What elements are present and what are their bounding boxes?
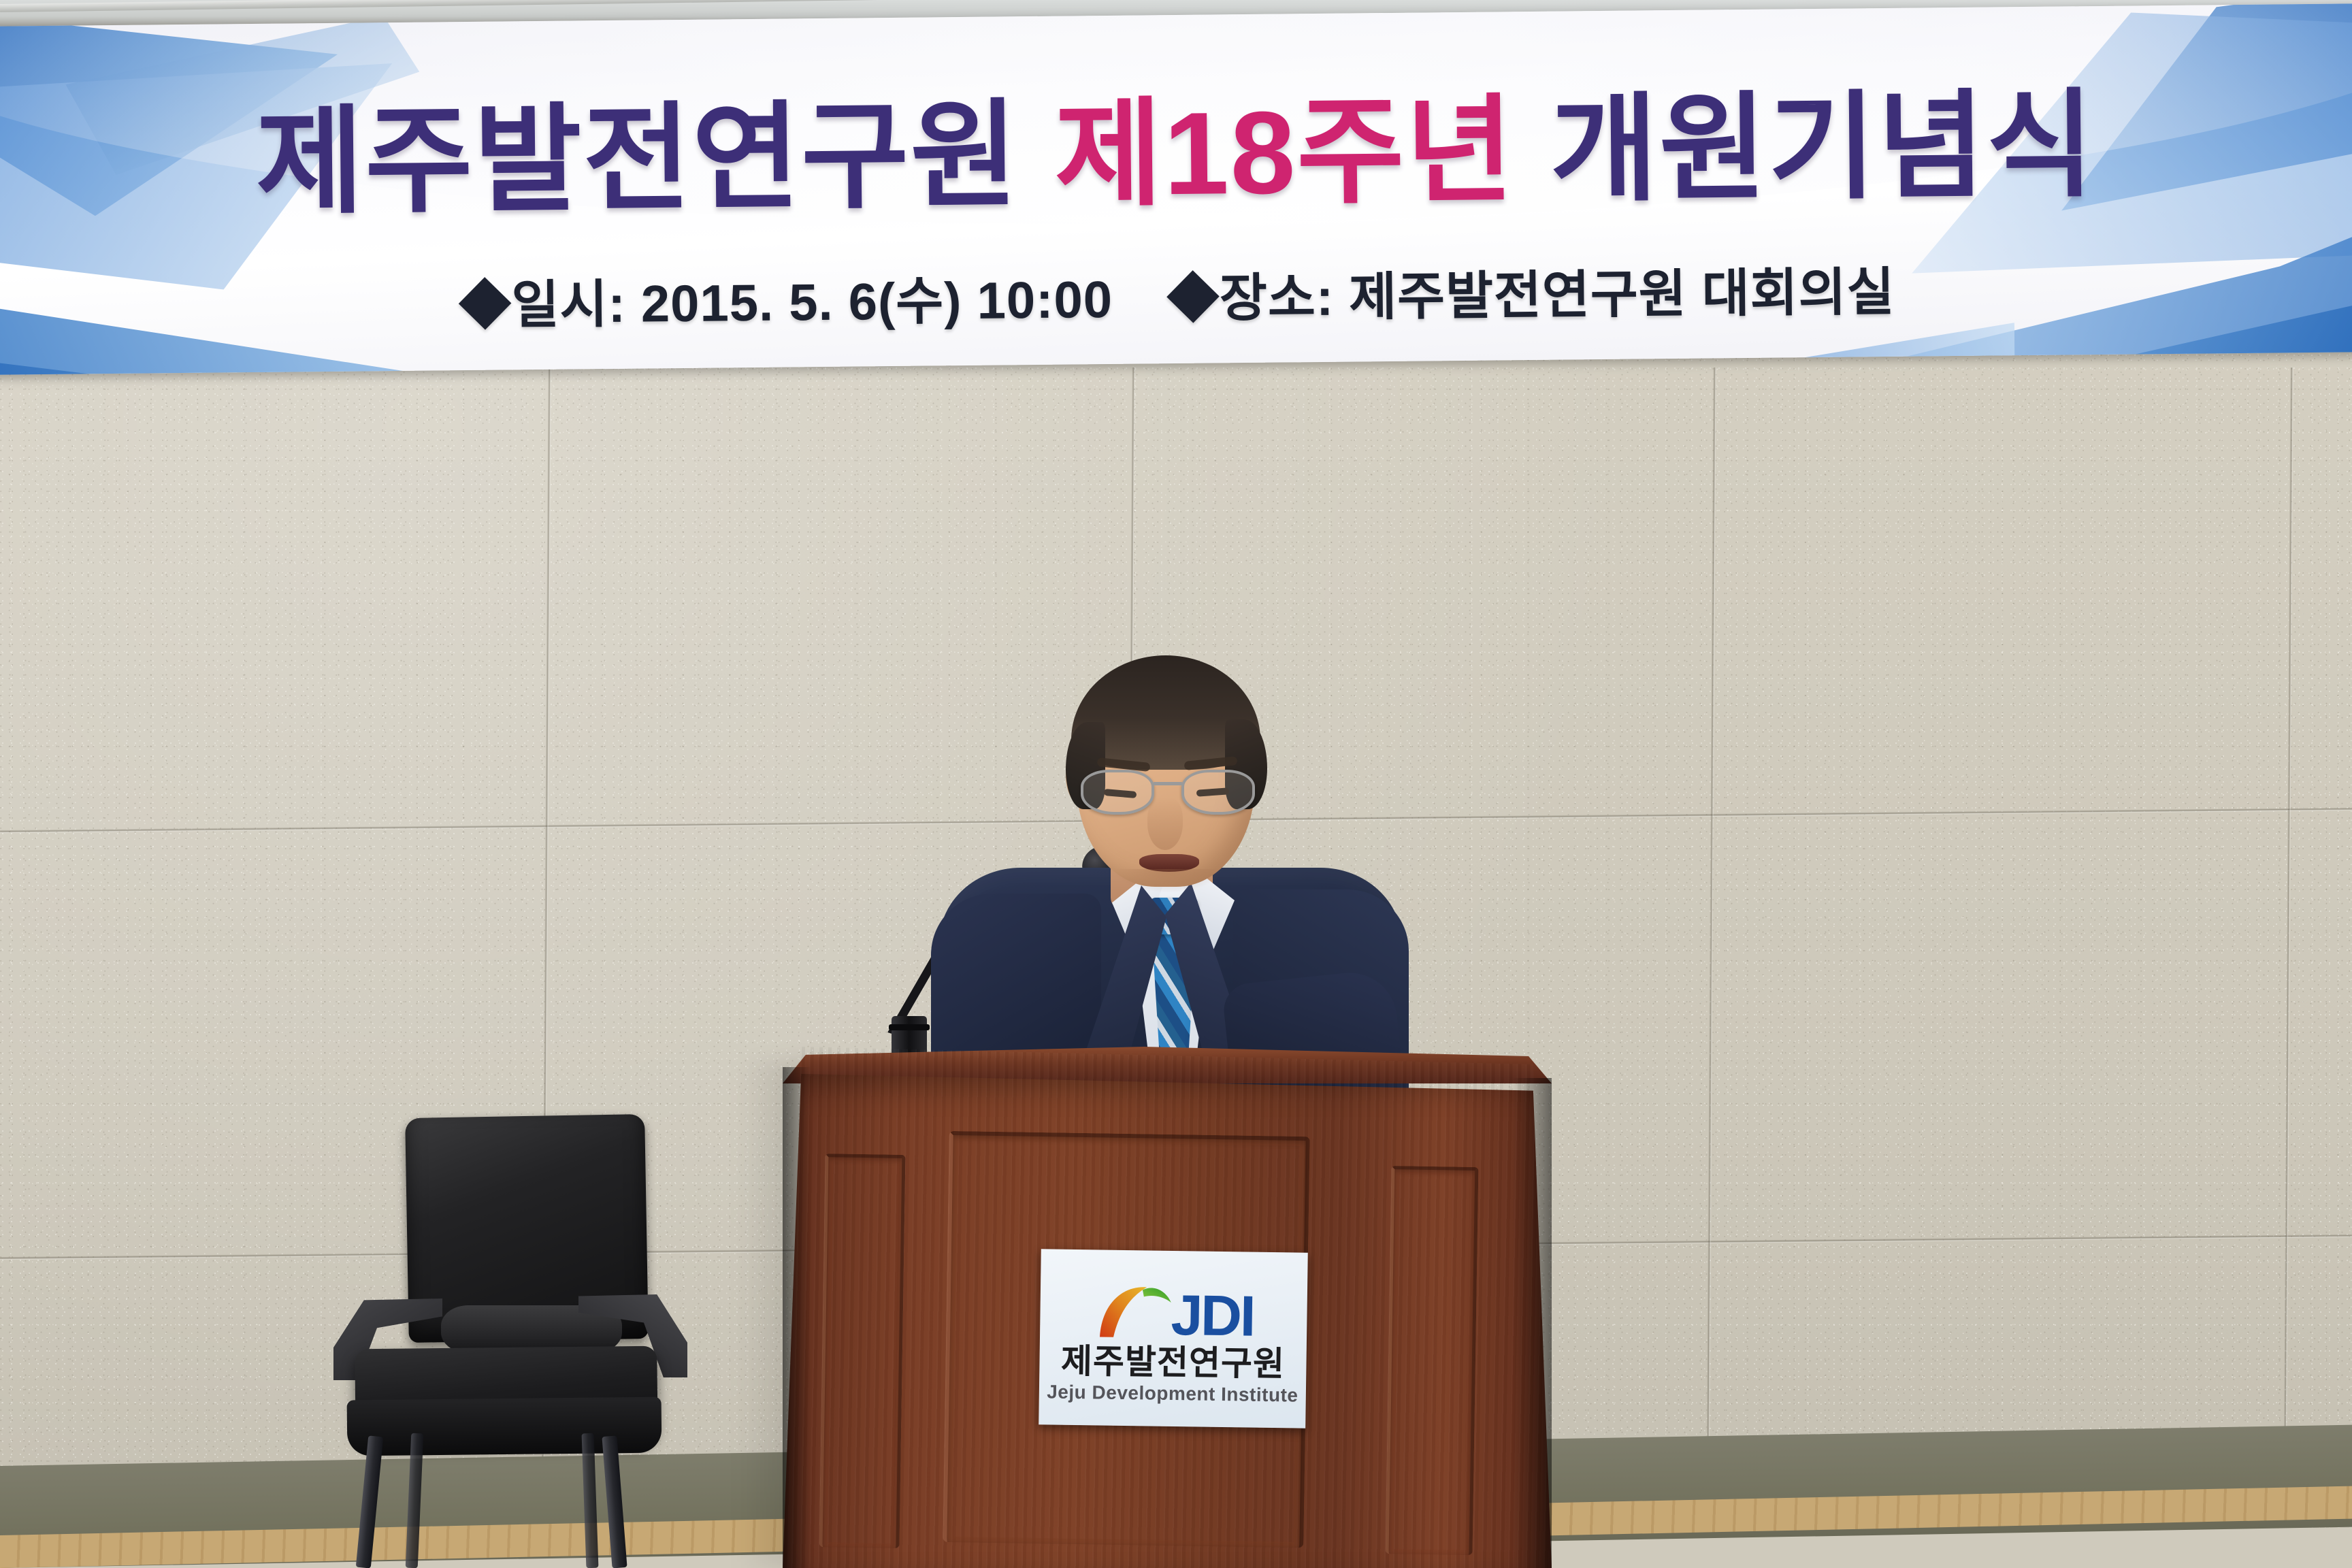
jdi-wordmark: JDI	[1171, 1290, 1254, 1340]
lectern-podium: JDI 제주발전연구원 Jeju Development Institute	[783, 1047, 1552, 1568]
microphone-base-ring	[889, 1024, 930, 1030]
podium-moulding-left	[819, 1154, 905, 1548]
podium-moulding-right	[1386, 1166, 1479, 1555]
chin-shadow	[1115, 869, 1221, 892]
banner-title-ceremony: 개원기념식	[1550, 80, 2096, 216]
jdi-logo-row: JDI	[1093, 1273, 1254, 1340]
banner-title-org: 제주발전연구원	[255, 90, 1019, 228]
jdi-english-name: Jeju Development Institute	[1047, 1383, 1298, 1405]
jdi-arc-icon	[1093, 1278, 1174, 1339]
nose	[1147, 797, 1183, 850]
eyeglass-lens-left	[1081, 770, 1154, 815]
chair-leg	[356, 1435, 383, 1568]
podium-edge-shadow-left	[783, 1067, 811, 1568]
podium-edge-shadow-right	[1512, 1078, 1552, 1568]
chair-leg	[602, 1435, 627, 1568]
jdi-korean-name: 제주발전연구원	[1061, 1343, 1286, 1382]
banner-subtitle-place: ◆장소: 제주발전연구원 대회의실	[1167, 263, 1895, 328]
banner-subtitle-date: ◆일시: 2015. 5. 6(수) 10:00	[459, 271, 1113, 335]
ceiling-rail	[0, 0, 885, 12]
banner-title-anniversary: 제18주년	[1054, 85, 1516, 220]
eyeglass-bridge	[1153, 782, 1183, 785]
jdi-logo-plaque: JDI 제주발전연구원 Jeju Development Institute	[1039, 1249, 1308, 1428]
office-chair	[306, 1116, 687, 1568]
eyeglass-lens-right	[1181, 770, 1255, 815]
event-banner: 제주발전연구원제18주년개원기념식 ◆일시: 2015. 5. 6(수) 10:…	[0, 3, 2352, 375]
photo-scene: 제주발전연구원제18주년개원기념식 ◆일시: 2015. 5. 6(수) 10:…	[0, 0, 2352, 1568]
banner-title: 제주발전연구원제18주년개원기념식	[0, 84, 2352, 224]
